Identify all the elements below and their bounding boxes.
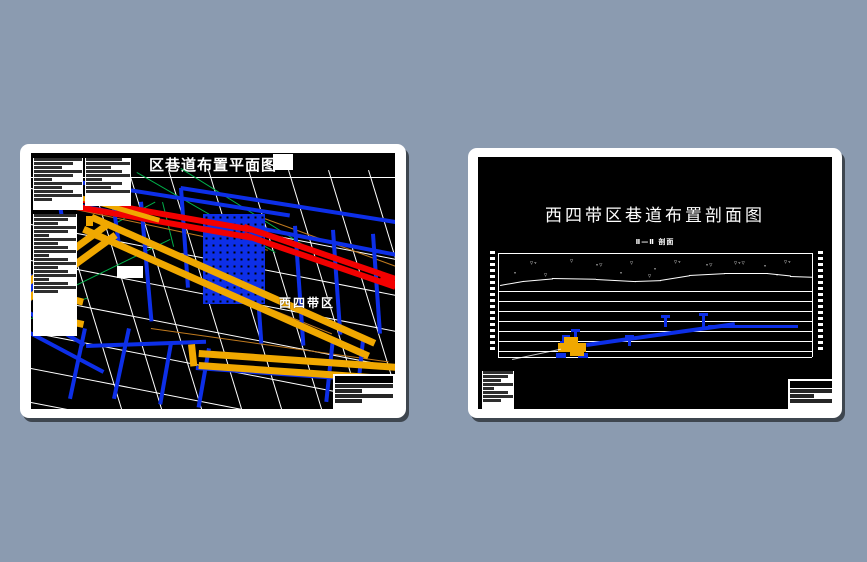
legend-table-lower[interactable] <box>33 214 77 336</box>
screenshot-stage: 区巷道布置平面图 <box>0 0 867 562</box>
legend-table-secondary[interactable] <box>85 158 131 206</box>
drawing-title-block[interactable] <box>788 379 832 409</box>
elevation-legend-block[interactable] <box>482 371 514 409</box>
plan-drawing-canvas[interactable]: 区巷道布置平面图 <box>31 153 395 409</box>
elevation-scale-left <box>490 251 495 353</box>
panel-roadway-layout-plan[interactable]: 区巷道布置平面图 <box>20 144 406 418</box>
section-drawing-body: ▽ ▿ ▽ ▿ ▽ ▽ ▿ ▽ ▿ ▿ ▽ ▽ ▿ ▽ ▿ ▽ ▿ ▿ ▽ ▿ … <box>478 157 832 409</box>
section-drawing-canvas[interactable]: 西四带区巷道布置剖面图 Ⅱ—Ⅱ 剖面 <box>478 157 832 409</box>
panel-roadway-layout-section[interactable]: 西四带区巷道布置剖面图 Ⅱ—Ⅱ 剖面 <box>468 148 842 418</box>
plan-area-label: 西四带区 <box>279 294 335 311</box>
plan-drawing-body: 西四带区 <box>31 178 395 409</box>
elevation-scale-right <box>818 251 823 353</box>
drawing-title-block[interactable] <box>333 374 395 409</box>
legend-table[interactable] <box>33 158 83 210</box>
